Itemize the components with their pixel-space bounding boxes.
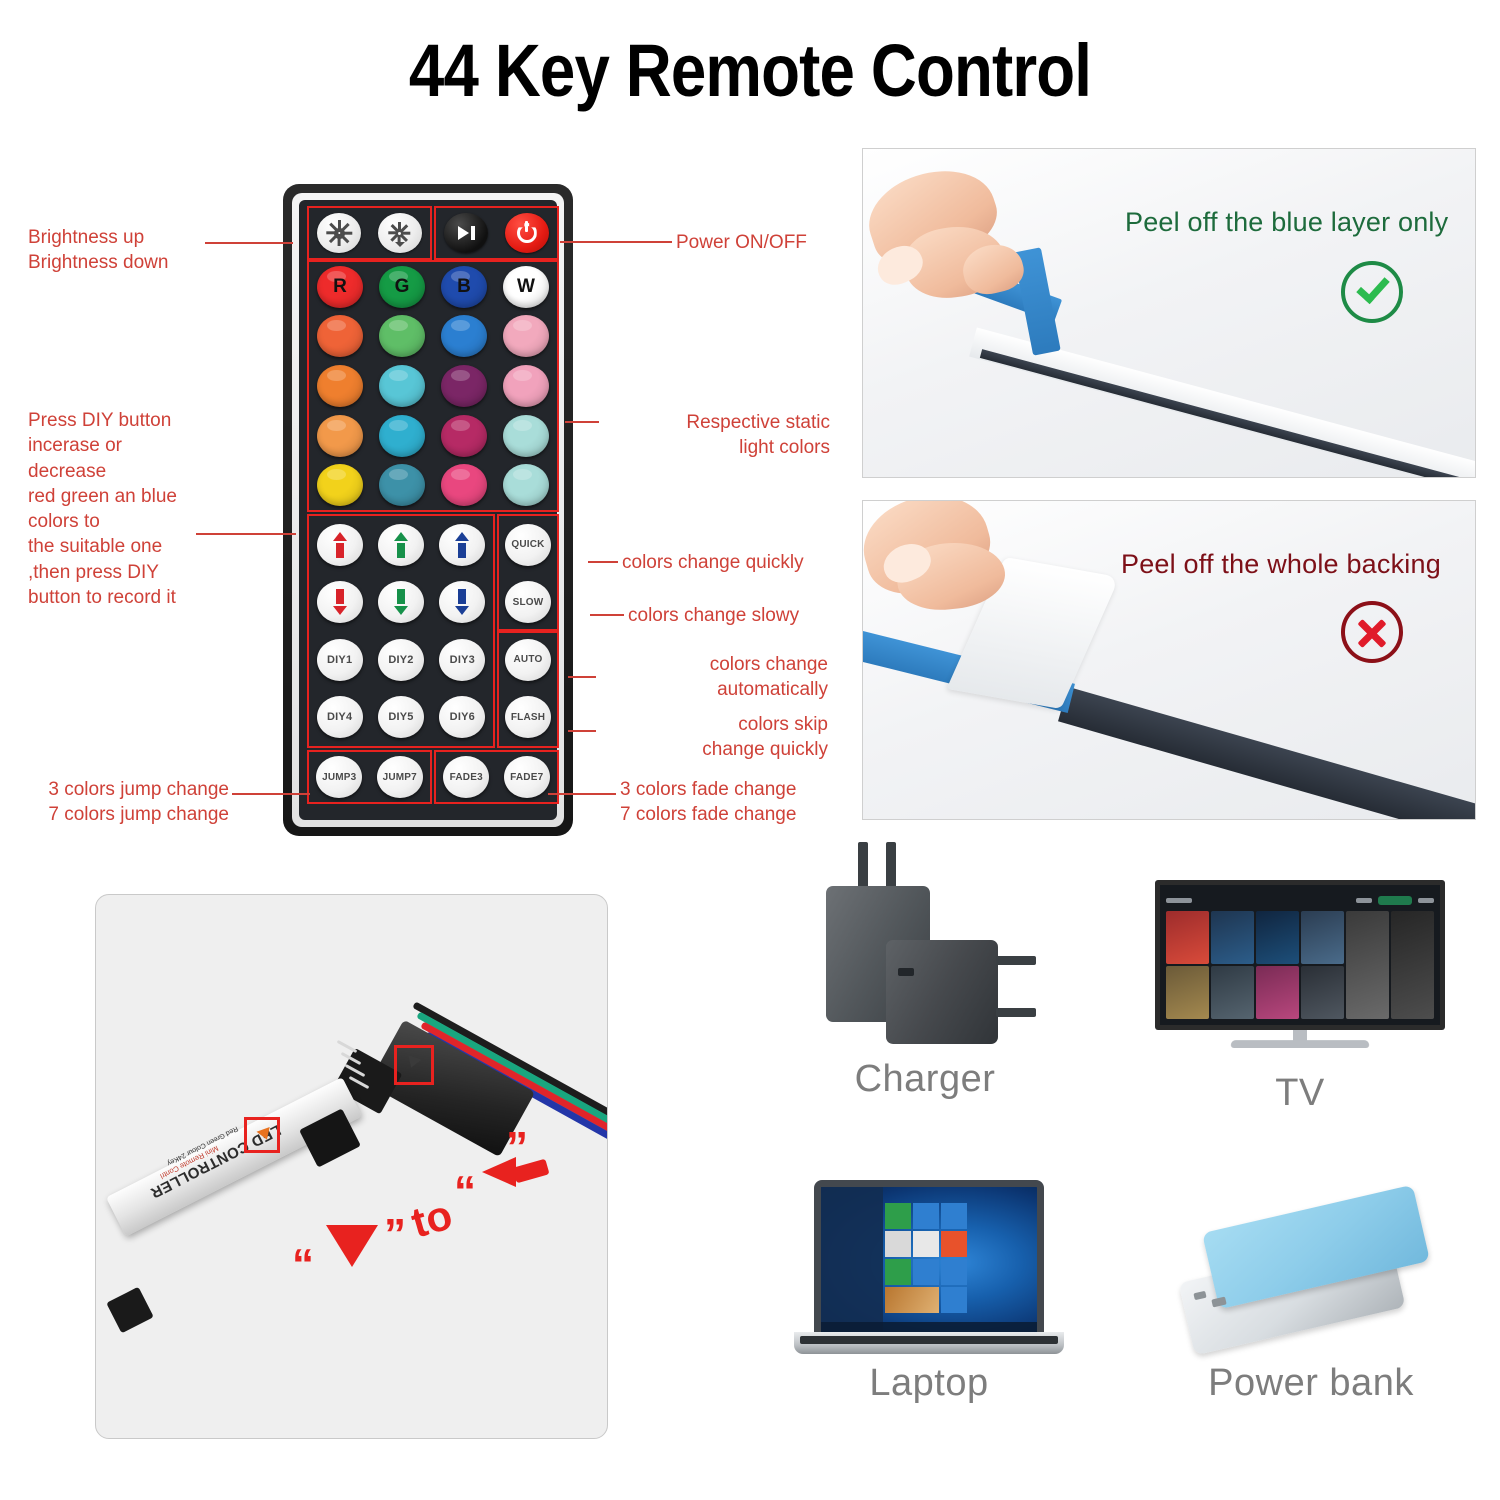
fade-group: FADE3 FADE7 bbox=[436, 752, 557, 802]
color-button-r4c3[interactable] bbox=[441, 415, 487, 457]
callout-static-colors: Respective static light colors bbox=[600, 410, 830, 461]
laptop-tile-10 bbox=[941, 1287, 967, 1313]
blue-up-button[interactable] bbox=[439, 524, 485, 566]
remote-keypad: R G B W bbox=[299, 200, 557, 820]
callout-fade-line2: 7 colors fade change bbox=[620, 802, 860, 827]
tv-poster-9 bbox=[1256, 966, 1299, 1019]
leader-jump bbox=[232, 793, 310, 795]
power-button[interactable] bbox=[505, 213, 549, 253]
green-up-button[interactable] bbox=[378, 524, 424, 566]
leader-diy bbox=[196, 533, 296, 535]
jump3-button[interactable]: JUMP3 bbox=[316, 756, 362, 798]
tv-poster-5 bbox=[1346, 911, 1389, 1019]
arrow-up-green-icon bbox=[394, 532, 408, 558]
page-title: 44 Key Remote Control bbox=[105, 28, 1395, 113]
brightness-group bbox=[309, 208, 430, 258]
quote-close-1: ” bbox=[384, 1210, 406, 1260]
laptop-screen bbox=[814, 1180, 1044, 1332]
diy5-button[interactable]: DIY5 bbox=[378, 696, 424, 738]
callout-flash-line1: colors skip bbox=[600, 712, 828, 737]
callout-fade: 3 colors fade change 7 colors fade chang… bbox=[620, 777, 860, 828]
laptop-tile-2 bbox=[913, 1203, 939, 1229]
photo1-caption: Peel off the blue layer only bbox=[1125, 207, 1448, 238]
jump-group: JUMP3 JUMP7 bbox=[309, 752, 430, 802]
color-button-r4c2[interactable] bbox=[379, 415, 425, 457]
remote-control: R G B W bbox=[283, 184, 573, 836]
power-bank-label: Power bank bbox=[1156, 1362, 1466, 1405]
callout-jump: 3 colors jump change 7 colors jump chang… bbox=[14, 777, 229, 828]
controller-tail bbox=[106, 1287, 154, 1334]
connector-pin-1 bbox=[337, 1040, 358, 1053]
charger-body-front bbox=[886, 940, 998, 1044]
quote-open-1: “ bbox=[292, 1240, 314, 1290]
diy6-button[interactable]: DIY6 bbox=[439, 696, 485, 738]
laptop-tile-9 bbox=[941, 1259, 967, 1285]
cross-mark-icon bbox=[1341, 601, 1403, 663]
tv-poster-3 bbox=[1256, 911, 1299, 964]
color-button-r2c4[interactable] bbox=[503, 315, 549, 357]
callout-power: Power ON/OFF bbox=[676, 230, 807, 255]
arrow-up-red-icon bbox=[333, 532, 347, 558]
leader-fade bbox=[548, 793, 616, 795]
sun-plus-icon bbox=[326, 220, 352, 246]
callout-flash-line2: change quickly bbox=[600, 737, 828, 762]
arrow-down-blue-icon bbox=[455, 589, 469, 615]
leader-static-colors bbox=[565, 421, 599, 423]
jump-fade-row: JUMP3 JUMP7 FADE3 FADE7 bbox=[309, 752, 557, 802]
device-charger: Charger bbox=[800, 840, 1070, 1120]
laptop-start-panel bbox=[821, 1187, 883, 1331]
leader-brightness bbox=[205, 242, 293, 244]
callout-jump-line1: 3 colors jump change bbox=[14, 777, 229, 802]
tv-poster-4 bbox=[1301, 911, 1344, 964]
color-button-r4c1[interactable] bbox=[317, 415, 363, 457]
check-mark-icon bbox=[1341, 261, 1403, 323]
color-button-g[interactable]: G bbox=[379, 266, 425, 308]
arrow-down-red-icon bbox=[333, 589, 347, 615]
color-label-w: W bbox=[503, 266, 549, 308]
diy4-button[interactable]: DIY4 bbox=[317, 696, 363, 738]
brightness-up-button[interactable] bbox=[317, 213, 361, 253]
color-button-r4c4[interactable] bbox=[503, 415, 549, 457]
laptop-tile-4 bbox=[885, 1231, 911, 1257]
laptop-tile-6 bbox=[941, 1231, 967, 1257]
fade7-button[interactable]: FADE7 bbox=[504, 756, 550, 798]
quote-close-2: ” bbox=[506, 1123, 528, 1173]
play-pause-icon bbox=[458, 226, 475, 240]
to-label: to bbox=[406, 1190, 457, 1247]
tv-poster-6 bbox=[1391, 911, 1434, 1019]
color-button-r3c3[interactable] bbox=[441, 365, 487, 407]
device-power-bank: Power bank bbox=[1160, 1180, 1470, 1410]
color-button-w[interactable]: W bbox=[503, 266, 549, 308]
color-button-grid: R G B W bbox=[309, 262, 557, 510]
color-label-b: B bbox=[441, 266, 487, 308]
laptop-tile-7 bbox=[885, 1259, 911, 1285]
quote-open-2: “ bbox=[454, 1167, 476, 1217]
sun-minus-icon bbox=[387, 220, 413, 246]
tv-poster-8 bbox=[1211, 966, 1254, 1019]
controller-connection-panel: LED CONTROLLER Mini Remote Contrl Red Gr… bbox=[95, 894, 608, 1439]
color-label-r: R bbox=[317, 266, 363, 308]
charger-prong-2 bbox=[886, 842, 896, 888]
charger-side-prong-1 bbox=[996, 956, 1036, 965]
color-button-r2c1[interactable] bbox=[317, 315, 363, 357]
leader-power bbox=[560, 241, 672, 243]
function-button-area: DIY1 DIY2 DIY3 DIY4 DIY5 DIY6 QUICK SLOW… bbox=[309, 516, 557, 746]
tv-screen bbox=[1160, 885, 1440, 1025]
color-button-r2c2[interactable] bbox=[379, 315, 425, 357]
diy3-button[interactable]: DIY3 bbox=[439, 639, 485, 681]
callout-flash: colors skip change quickly bbox=[600, 712, 828, 763]
mode-button-column: QUICK SLOW AUTO FLASH bbox=[499, 516, 557, 746]
brightness-down-button[interactable] bbox=[378, 213, 422, 253]
tv-frame bbox=[1155, 880, 1445, 1030]
callout-static-line2: light colors bbox=[600, 435, 830, 460]
remote-body: R G B W bbox=[283, 184, 573, 836]
laptop-tile-5 bbox=[913, 1231, 939, 1257]
callout-diy: Press DIY button incerase or decrease re… bbox=[28, 408, 278, 610]
tv-label: TV bbox=[1155, 1072, 1445, 1115]
color-button-r3c1[interactable] bbox=[317, 365, 363, 407]
peel-photo-blue-layer: Peel off the blue layer only bbox=[862, 148, 1476, 478]
color-button-b[interactable]: B bbox=[441, 266, 487, 308]
color-button-r3c4[interactable] bbox=[503, 365, 549, 407]
callout-quick: colors change quickly bbox=[622, 550, 804, 575]
laptop-label: Laptop bbox=[784, 1362, 1074, 1405]
laptop-tile-3 bbox=[941, 1203, 967, 1229]
charger-side-prong-2 bbox=[996, 1008, 1036, 1017]
arrow-diy-grid: DIY1 DIY2 DIY3 DIY4 DIY5 DIY6 bbox=[309, 516, 493, 746]
color-label-g: G bbox=[379, 266, 425, 308]
laptop-keyboard bbox=[800, 1336, 1058, 1344]
blue-down-button[interactable] bbox=[439, 581, 485, 623]
color-button-r2c3[interactable] bbox=[441, 315, 487, 357]
charger-prong-1 bbox=[858, 842, 868, 888]
callout-auto-line2: automatically bbox=[600, 677, 828, 702]
photo2-caption: Peel off the whole backing bbox=[1121, 549, 1441, 580]
laptop-tile-8 bbox=[913, 1259, 939, 1285]
diy2-button[interactable]: DIY2 bbox=[378, 639, 424, 681]
device-tv: TV bbox=[1155, 880, 1455, 1120]
leader-auto bbox=[568, 676, 596, 678]
top-button-row bbox=[309, 208, 557, 258]
power-group bbox=[436, 208, 557, 258]
charger-label: Charger bbox=[790, 1058, 1060, 1101]
callout-auto: colors change automatically bbox=[600, 652, 828, 703]
laptop-tile-photo bbox=[885, 1287, 939, 1313]
power-icon bbox=[517, 223, 537, 243]
quick-button[interactable]: QUICK bbox=[505, 524, 551, 566]
play-pause-button[interactable] bbox=[444, 213, 488, 253]
tv-poster-2 bbox=[1211, 911, 1254, 964]
callout-static-line1: Respective static bbox=[600, 410, 830, 435]
diy1-button[interactable]: DIY1 bbox=[317, 639, 363, 681]
callout-jump-line2: 7 colors jump change bbox=[14, 802, 229, 827]
flash-button[interactable]: FLASH bbox=[505, 696, 551, 738]
leader-quick bbox=[588, 561, 618, 563]
color-button-r5c1[interactable] bbox=[317, 464, 363, 506]
red-up-button[interactable] bbox=[317, 524, 363, 566]
callout-brightness-line1: Brightness up bbox=[28, 225, 278, 250]
tv-nav-bar bbox=[1166, 891, 1434, 909]
triangle-marker-icon bbox=[326, 1225, 378, 1267]
leader-slow bbox=[590, 614, 624, 616]
red-down-button[interactable] bbox=[317, 581, 363, 623]
jump7-button[interactable]: JUMP7 bbox=[377, 756, 423, 798]
laptop-tile-1 bbox=[885, 1203, 911, 1229]
callout-fade-line1: 3 colors fade change bbox=[620, 777, 860, 802]
laptop-taskbar bbox=[821, 1322, 1037, 1332]
tv-poster-1 bbox=[1166, 911, 1209, 964]
callout-brightness-line2: Brightness down bbox=[28, 250, 278, 275]
peel-photo-whole-backing: Peel off the whole backing bbox=[862, 500, 1476, 820]
tv-poster-7 bbox=[1166, 966, 1209, 1019]
color-button-r5c4[interactable] bbox=[503, 464, 549, 506]
charger-usb-port bbox=[898, 968, 914, 976]
color-button-r5c3[interactable] bbox=[441, 464, 487, 506]
auto-button[interactable]: AUTO bbox=[505, 639, 551, 681]
leader-flash bbox=[568, 730, 596, 732]
color-button-r5c2[interactable] bbox=[379, 464, 425, 506]
tv-poster-10 bbox=[1301, 966, 1344, 1019]
arrow-down-green-icon bbox=[394, 589, 408, 615]
color-button-r3c2[interactable] bbox=[379, 365, 425, 407]
callout-slow: colors change slowy bbox=[628, 603, 799, 628]
callout-brightness: Brightness up Brightness down bbox=[28, 225, 278, 276]
fade3-button[interactable]: FADE3 bbox=[443, 756, 489, 798]
green-down-button[interactable] bbox=[378, 581, 424, 623]
tv-stand-base bbox=[1230, 1040, 1370, 1048]
remote-bezel: R G B W bbox=[292, 193, 564, 827]
color-button-r[interactable]: R bbox=[317, 266, 363, 308]
callout-auto-line1: colors change bbox=[600, 652, 828, 677]
slow-button[interactable]: SLOW bbox=[505, 581, 551, 623]
arrow-up-blue-icon bbox=[455, 532, 469, 558]
device-laptop: Laptop bbox=[790, 1180, 1090, 1410]
